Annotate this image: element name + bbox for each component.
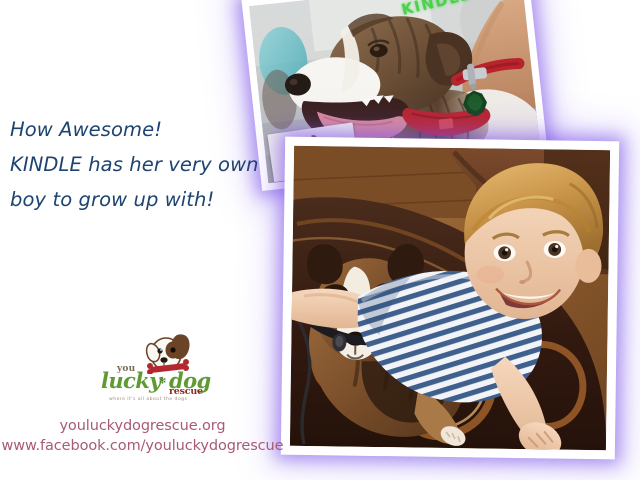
website-url[interactable]: youluckydogrescue.org [0, 416, 285, 436]
logo-word-lucky: lucky [101, 370, 161, 391]
headline-line-2: KINDLE has her very own [10, 147, 280, 182]
headline-text: How Awesome! KINDLE has her very own boy… [10, 112, 280, 217]
boy-and-dog-illustration [290, 146, 610, 450]
poster-canvas: KINDLE luckydog rescue where it's all ab… [0, 0, 640, 480]
photo-boy-and-dog[interactable] [281, 137, 619, 460]
contact-urls: youluckydogrescue.org www.facebook.com/y… [0, 416, 285, 456]
headline-line-3: boy to grow up with! [10, 182, 280, 217]
paw-icon: ❄ [158, 377, 167, 386]
logo-wordmark: you lucky ❄ dog rescue where it's all ab… [95, 366, 225, 400]
logo-tagline: where it's all about the dogs [109, 397, 187, 402]
logo-word-rescue: rescue [169, 386, 203, 397]
facebook-url[interactable]: www.facebook.com/youluckydogrescue [0, 436, 285, 456]
you-lucky-dog-rescue-logo[interactable]: you lucky ❄ dog rescue where it's all ab… [95, 332, 225, 400]
headline-line-1: How Awesome! [10, 112, 280, 147]
photo-boy-image-area [290, 146, 610, 450]
